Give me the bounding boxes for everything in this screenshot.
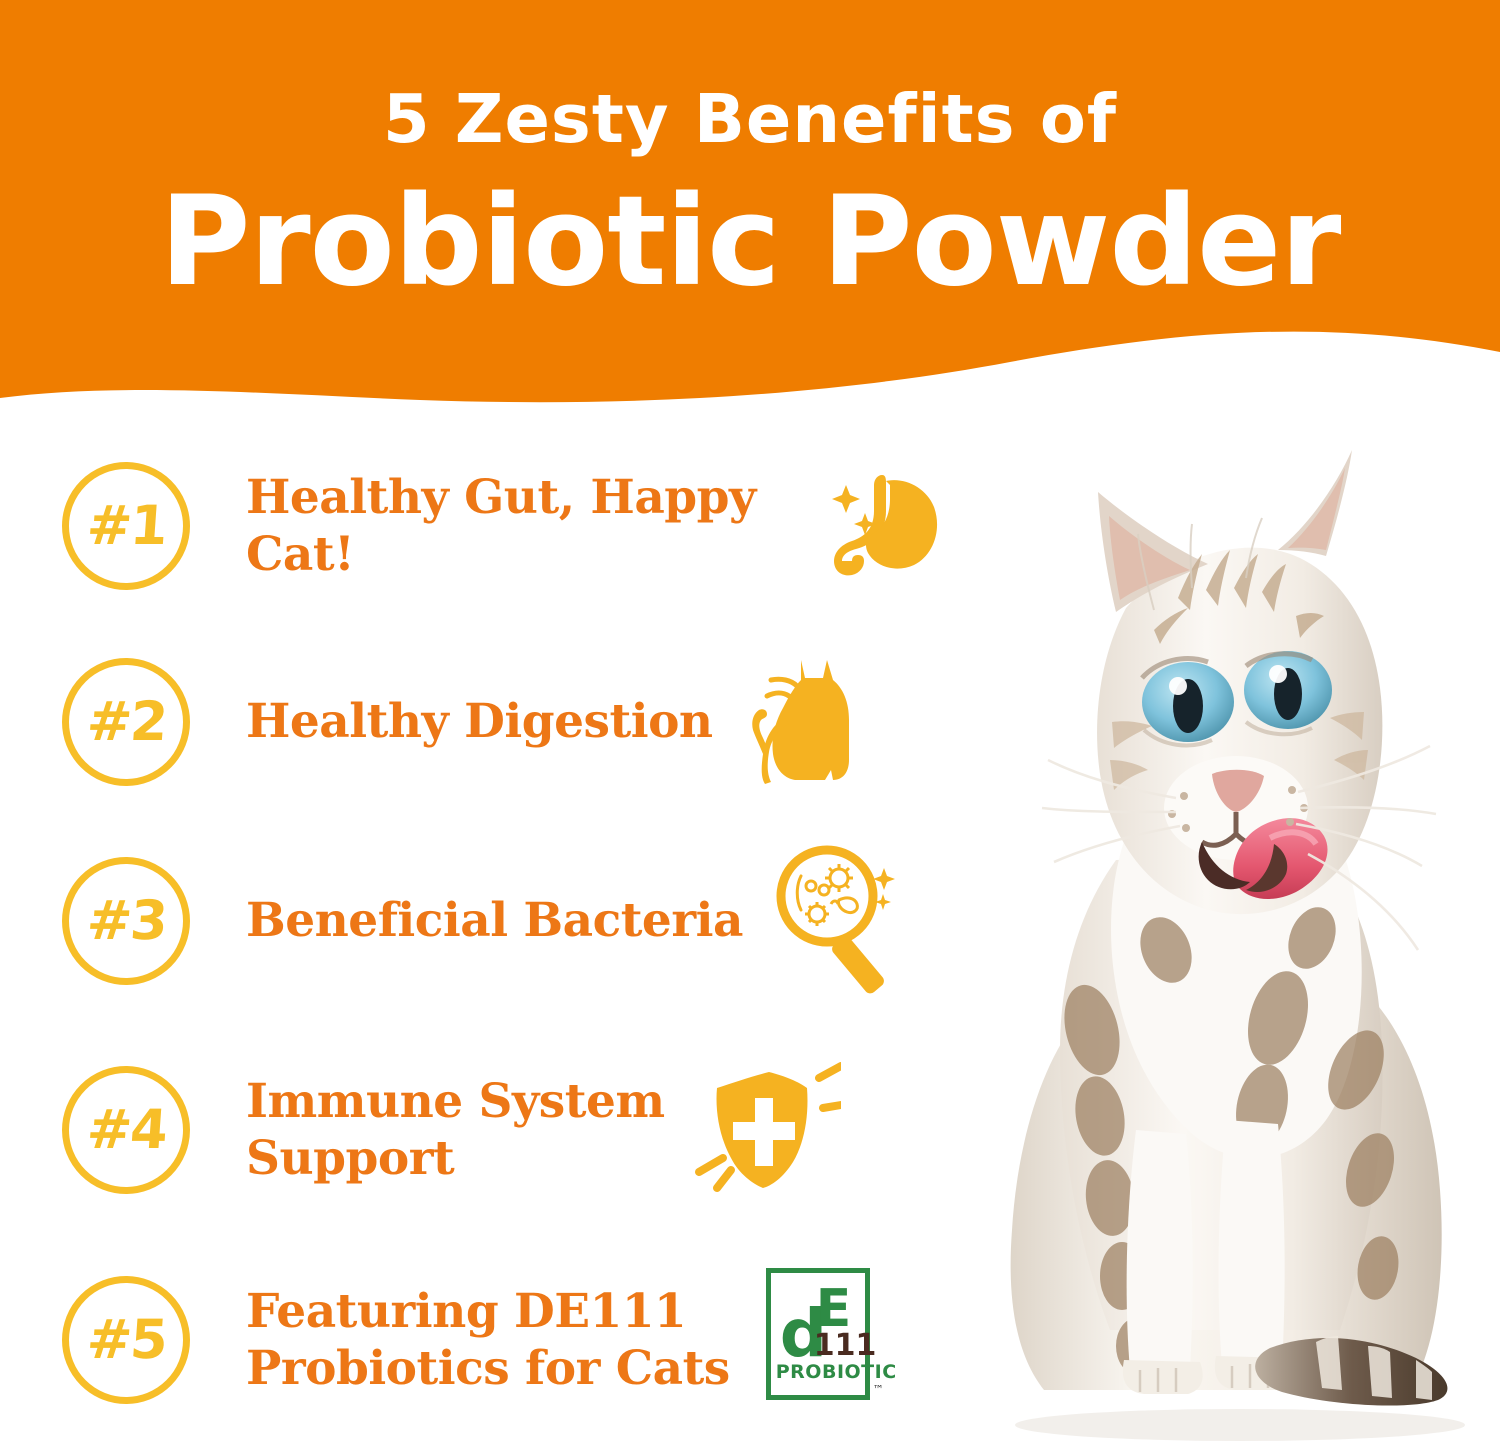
magnifying-glass-bacteria-icon <box>769 842 907 1000</box>
benefit-label-2: Healthy Digestion <box>246 693 713 750</box>
benefit-item-3[interactable]: #3 Beneficial Bacteria <box>62 842 907 1000</box>
benefit-badge-1: #1 <box>62 462 190 590</box>
benefit-badge-label: #2 <box>85 695 168 749</box>
benefit-badge-label: #1 <box>85 499 168 553</box>
sitting-cat-icon <box>739 652 857 792</box>
benefit-badge-5: #5 <box>62 1276 190 1404</box>
de111-probiotic-word: PROBIOTIC <box>776 1363 897 1382</box>
cat-photo <box>940 430 1500 1445</box>
shield-plus-icon <box>691 1060 841 1200</box>
benefit-item-1[interactable]: #1 Healthy Gut, Happy Cat! <box>62 462 950 590</box>
benefit-label-5: Featuring DE111 Probiotics for Cats <box>246 1283 730 1398</box>
benefit-item-5[interactable]: #5 Featuring DE111 Probiotics for Cats d… <box>62 1265 886 1415</box>
de111-probiotic-logo: d E 111 PROBIOTIC ™ <box>756 1265 886 1415</box>
de111-trademark-icon: ™ <box>873 1383 884 1396</box>
header-banner-shape <box>0 0 1500 440</box>
benefit-badge-label: #3 <box>85 894 168 948</box>
infographic-page: 5 Zesty Benefits of Probiotic Powder <box>0 0 1500 1445</box>
benefit-badge-3: #3 <box>62 857 190 985</box>
benefit-badge-label: #4 <box>85 1103 168 1157</box>
benefit-badge-label: #5 <box>85 1313 168 1367</box>
de111-number: 111 <box>814 1331 877 1361</box>
benefit-item-2[interactable]: #2 Healthy Digestion <box>62 652 857 792</box>
benefit-item-4[interactable]: #4 Immune System Support <box>62 1060 841 1200</box>
benefit-label-1: Healthy Gut, Happy Cat! <box>246 469 794 584</box>
benefit-badge-4: #4 <box>62 1066 190 1194</box>
benefit-label-3: Beneficial Bacteria <box>246 892 743 949</box>
benefit-badge-2: #2 <box>62 658 190 786</box>
benefit-label-4: Immune System Support <box>246 1073 665 1188</box>
stomach-icon <box>820 471 950 581</box>
